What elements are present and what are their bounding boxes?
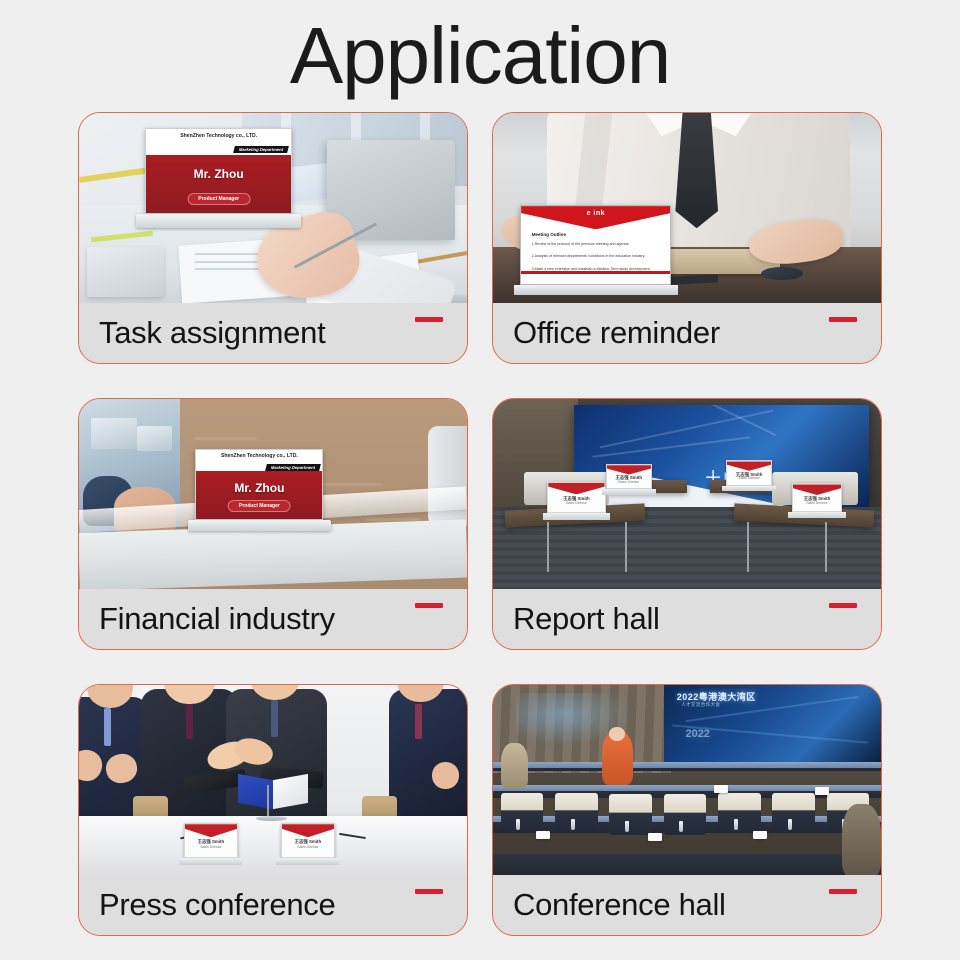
scene-office-reminder: e ink Meeting Outline 1.Review of the pr…: [493, 113, 881, 305]
card-label-task-assignment: Task assignment: [79, 303, 467, 363]
nameplate-name: Mr. Zhou: [196, 481, 322, 495]
nameplate-company: ShenZhen Technology co., LTD.: [204, 453, 315, 460]
mini-nameplate-title: Sales Director: [793, 501, 841, 506]
mini-nameplate: 王志强 Smith Sales Director: [726, 460, 773, 491]
nameplate-name: Mr. Zhou: [146, 167, 291, 181]
card-photo-press-conference: 王志强 Smith Sales Director 王志强 Smith Sales…: [79, 685, 467, 877]
card-photo-report-hall: ＋hp 王志强 Smith: [493, 399, 881, 591]
application-card-report-hall[interactable]: ＋hp 王志强 Smith: [492, 398, 882, 650]
mini-nameplate: 王志强 Smith Sales Director: [547, 482, 605, 520]
eink-logo: e ink: [521, 209, 670, 219]
application-card-task-assignment[interactable]: ShenZhen Technology co., LTD. Marketing …: [78, 112, 468, 364]
mini-nameplate-title: Sales Director: [282, 845, 334, 850]
led-backdrop: 2022粤港澳大湾区 人才交流合作大会 2022: [664, 685, 881, 762]
mini-nameplate-name: 王志强 Smith: [282, 839, 334, 845]
card-label-report-hall: Report hall: [493, 589, 881, 649]
page-title: Application: [0, 6, 960, 106]
eink-heading: Meeting Outline: [532, 232, 566, 238]
mini-nameplate: 王志强 Smith Sales Director: [281, 823, 335, 865]
desk-nameplate: ShenZhen Technology co., LTD. Marketing …: [195, 449, 323, 532]
card-label-text: Conference hall: [513, 888, 726, 922]
scene-bank-counter: ShenZhen Technology co., LTD. Marketing …: [79, 399, 467, 591]
application-card-grid: ShenZhen Technology co., LTD. Marketing …: [78, 112, 882, 936]
card-photo-conference-hall: 2022粤港澳大湾区 人才交流合作大会 2022: [493, 685, 881, 877]
mini-nameplate: 王志强 Smith Sales Director: [184, 823, 238, 865]
mini-nameplate-title: Sales Director: [185, 845, 237, 850]
card-label-text: Financial industry: [99, 602, 335, 636]
desk-nameplate: ShenZhen Technology co., LTD. Marketing …: [145, 128, 292, 228]
led-line-2: 人才交流合作大会: [681, 702, 720, 708]
led-line-1: 2022粤港澳大湾区: [677, 690, 756, 703]
application-card-office-reminder[interactable]: e ink Meeting Outline 1.Review of the pr…: [492, 112, 882, 364]
dash-icon: [829, 889, 857, 894]
dash-icon: [415, 603, 443, 608]
card-label-conference-hall: Conference hall: [493, 875, 881, 935]
application-card-press-conference[interactable]: 王志强 Smith Sales Director 王志强 Smith Sales…: [78, 684, 468, 936]
card-photo-office-reminder: e ink Meeting Outline 1.Review of the pr…: [493, 113, 881, 305]
card-label-financial-industry: Financial industry: [79, 589, 467, 649]
nameplate-job-title: Product Manager: [187, 193, 250, 205]
eink-line-1: 1.Review of the protocol of the previous…: [532, 242, 660, 247]
card-label-text: Press conference: [99, 888, 335, 922]
scene-office-desk: ShenZhen Technology co., LTD. Marketing …: [79, 113, 467, 305]
mini-nameplate: 王志强 Smith Sales Director: [792, 483, 842, 518]
application-card-financial-industry[interactable]: ShenZhen Technology co., LTD. Marketing …: [78, 398, 468, 650]
led-line-3: 2022: [685, 728, 709, 740]
card-photo-task-assignment: ShenZhen Technology co., LTD. Marketing …: [79, 113, 467, 305]
card-label-text: Task assignment: [99, 316, 325, 350]
card-label-text: Office reminder: [513, 316, 720, 350]
application-page: Application: [0, 0, 960, 960]
mini-nameplate-title: Sales Director: [548, 501, 604, 506]
mini-nameplate-title: Sales Director: [607, 480, 652, 485]
eink-sign: e ink Meeting Outline 1.Review of the pr…: [520, 205, 671, 295]
card-label-office-reminder: Office reminder: [493, 303, 881, 363]
mini-nameplate-name: 王志强 Smith: [185, 839, 237, 845]
card-label-press-conference: Press conference: [79, 875, 467, 935]
mini-nameplate-title: Sales Director: [727, 476, 772, 481]
scene-conference-hall: 2022粤港澳大湾区 人才交流合作大会 2022: [493, 685, 881, 877]
application-card-conference-hall[interactable]: 2022粤港澳大湾区 人才交流合作大会 2022: [492, 684, 882, 936]
dash-icon: [415, 317, 443, 322]
scene-report-hall: ＋hp 王志强 Smith: [493, 399, 881, 591]
mini-nameplate: 王志强 Smith Sales Director: [606, 464, 653, 495]
eink-line-2: 2.Analysis of relevant departments' cond…: [532, 254, 660, 259]
nameplate-job-title: Product Manager: [228, 500, 291, 512]
dash-icon: [415, 889, 443, 894]
nameplate-company: ShenZhen Technology co., LTD.: [155, 133, 283, 140]
card-label-text: Report hall: [513, 602, 660, 636]
scene-press-conference: 王志强 Smith Sales Director 王志强 Smith Sales…: [79, 685, 467, 877]
dash-icon: [829, 317, 857, 322]
dash-icon: [829, 603, 857, 608]
nameplate-department: Marketing Department: [233, 146, 289, 153]
card-photo-financial-industry: ShenZhen Technology co., LTD. Marketing …: [79, 399, 467, 591]
